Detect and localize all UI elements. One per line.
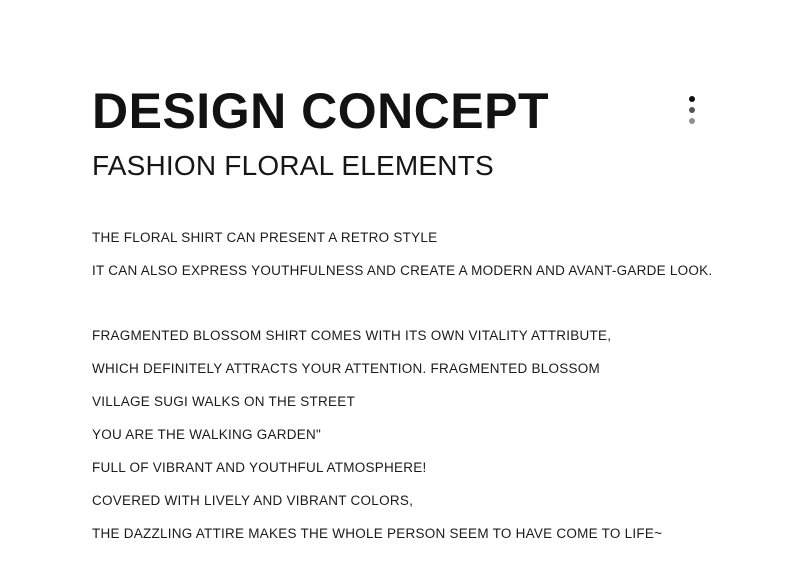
body-line: COVERED WITH LIVELY AND VIBRANT COLORS, (92, 484, 732, 517)
page-subtitle: FASHION FLORAL ELEMENTS (92, 137, 692, 182)
body-line: WHICH DEFINITELY ATTRACTS YOUR ATTENTION… (92, 352, 732, 385)
body-line: THE FLORAL SHIRT CAN PRESENT A RETRO STY… (92, 221, 732, 254)
dot-2 (689, 107, 695, 113)
dot-3 (689, 118, 695, 124)
body-line: THE DAZZLING ATTIRE MAKES THE WHOLE PERS… (92, 517, 732, 550)
body-line: FULL OF VIBRANT AND YOUTHFUL ATMOSPHERE! (92, 451, 732, 484)
vertical-dots-icon[interactable] (686, 96, 698, 132)
slide-canvas: DESIGN CONCEPT FASHION FLORAL ELEMENTS T… (0, 0, 790, 572)
paragraph-spacer (92, 287, 732, 319)
body-copy: THE FLORAL SHIRT CAN PRESENT A RETRO STY… (92, 221, 732, 550)
body-line: VILLAGE SUGI WALKS ON THE STREET (92, 385, 732, 418)
paragraph-2: FRAGMENTED BLOSSOM SHIRT COMES WITH ITS … (92, 319, 732, 550)
paragraph-1: THE FLORAL SHIRT CAN PRESENT A RETRO STY… (92, 221, 732, 287)
body-line: FRAGMENTED BLOSSOM SHIRT COMES WITH ITS … (92, 319, 732, 352)
page-title: DESIGN CONCEPT (92, 86, 692, 137)
body-line: IT CAN ALSO EXPRESS YOUTHFULNESS AND CRE… (92, 254, 732, 287)
header-block: DESIGN CONCEPT FASHION FLORAL ELEMENTS (92, 86, 692, 182)
body-line: YOU ARE THE WALKING GARDEN" (92, 418, 732, 451)
dot-1 (689, 96, 695, 102)
